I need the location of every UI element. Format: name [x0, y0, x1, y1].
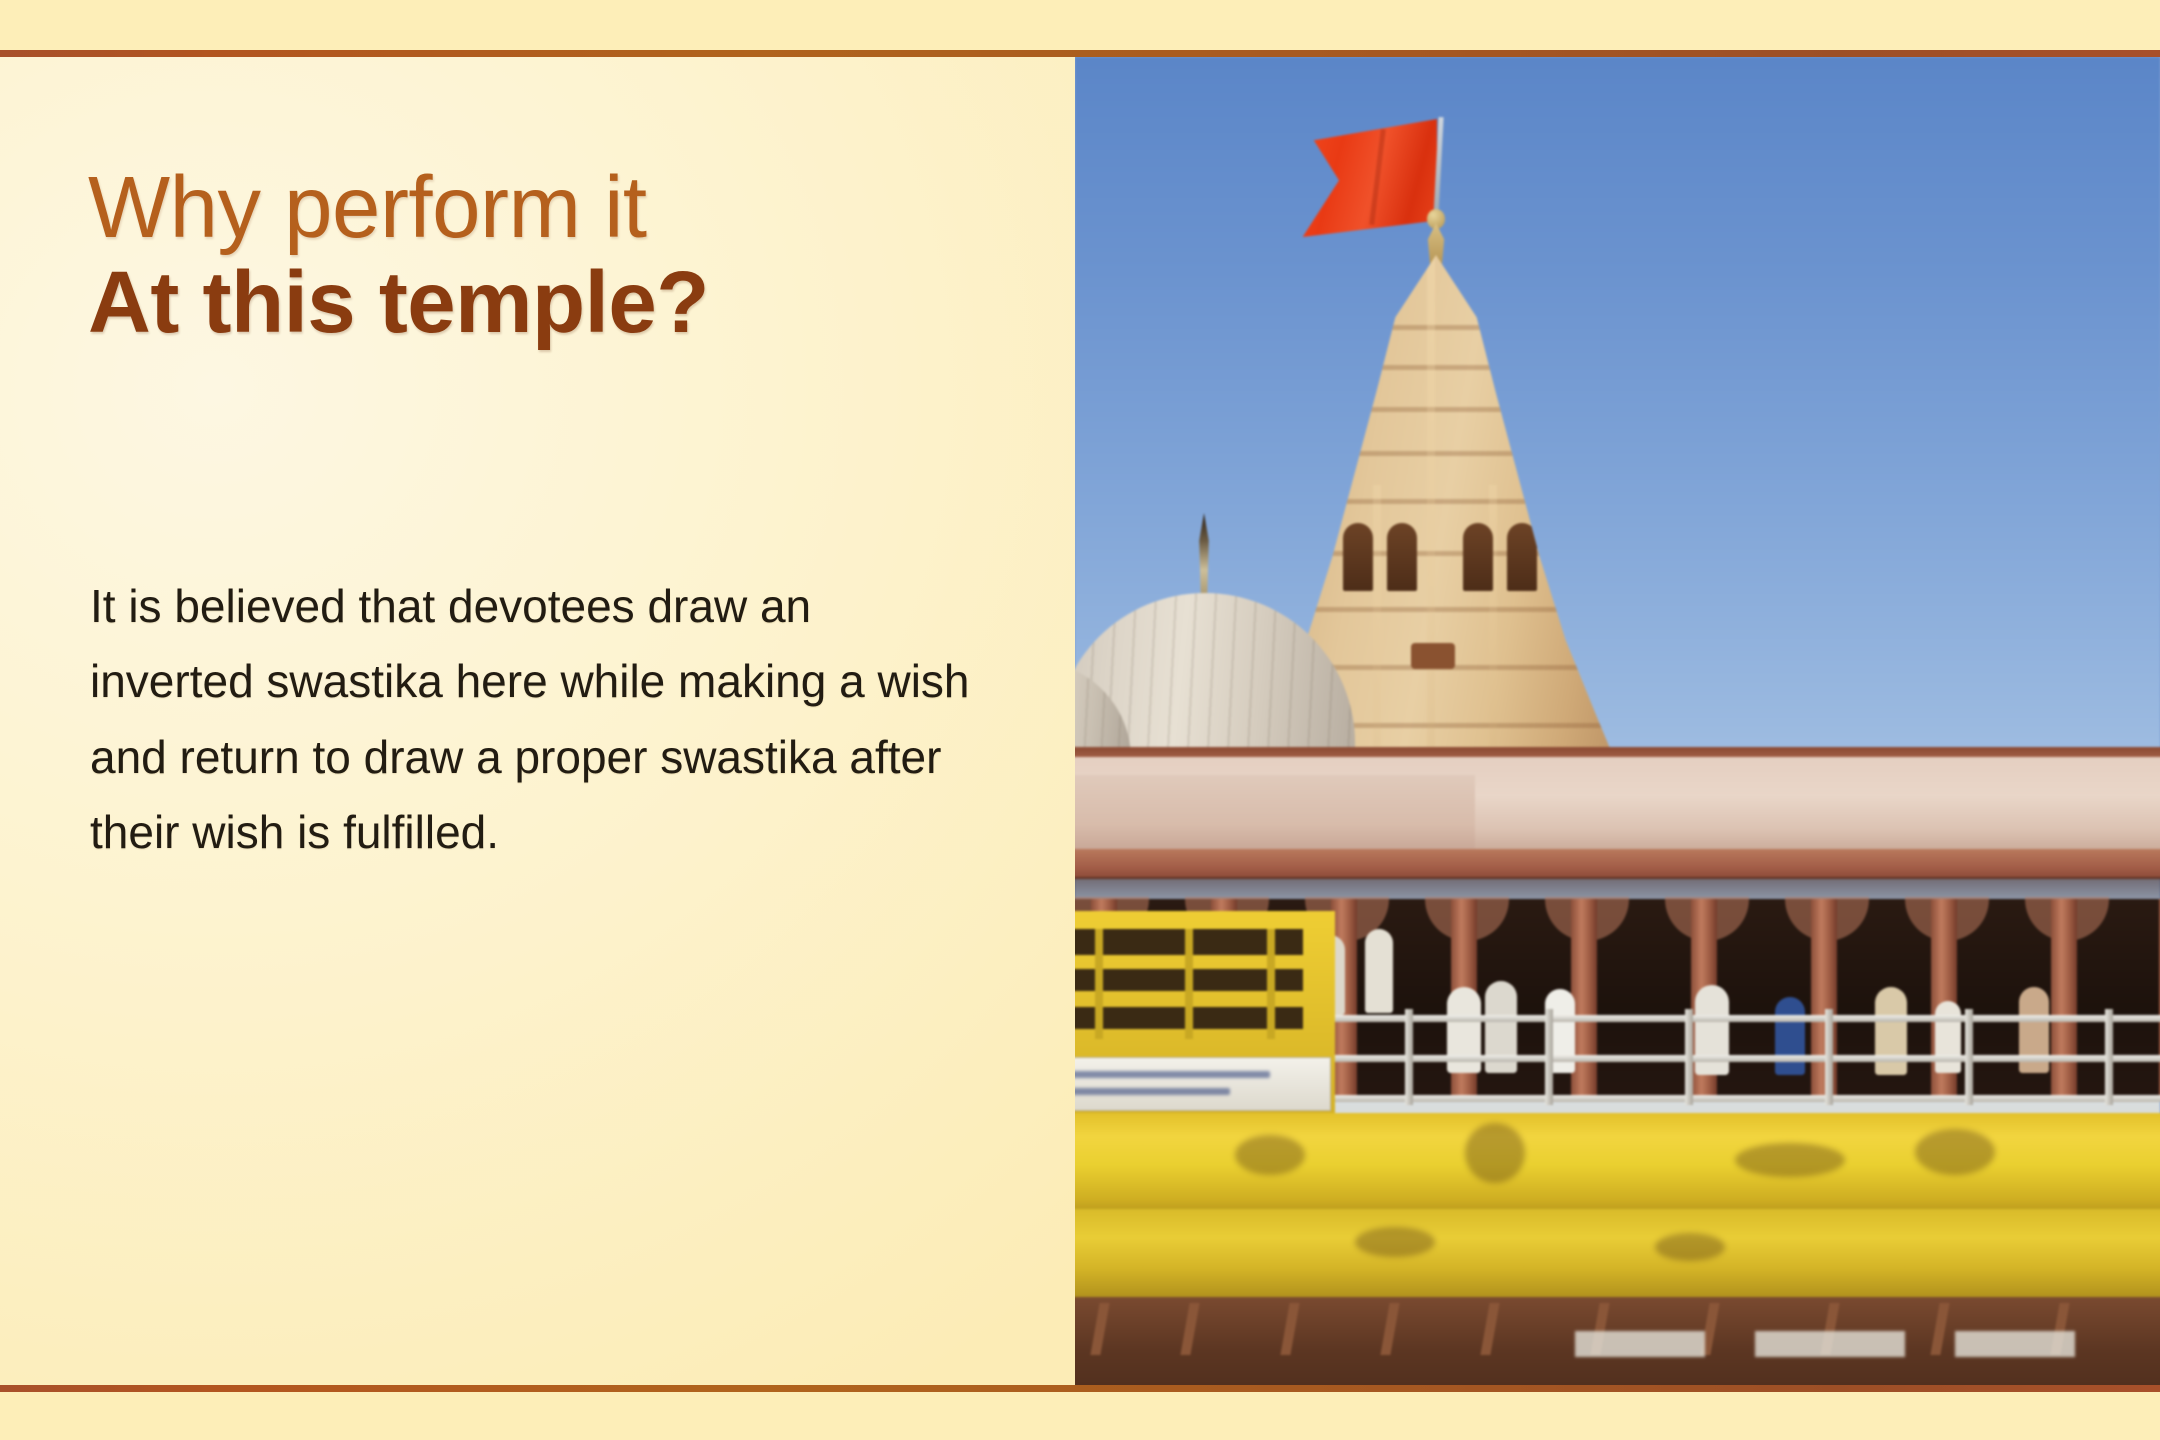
slide-root: Why perform it At this temple? It is bel… [0, 0, 2160, 1440]
heading-line-1: Why perform it [88, 162, 1018, 254]
yellow-barricade-pipe [1075, 1113, 2160, 1221]
cornice [1075, 849, 2160, 879]
yellow-barricade-pipe-lower [1075, 1209, 2160, 1305]
foreground-fence [1075, 1297, 2160, 1385]
mandapa-wall-left [1075, 775, 1475, 857]
bottom-rule-divider [0, 1385, 2160, 1392]
temple-signboard [1075, 1057, 1331, 1111]
heading-line-2: At this temple? [88, 254, 1018, 352]
page-title: Why perform it At this temple? [88, 162, 1018, 353]
person-figure [1365, 929, 1393, 1013]
temple-photo [1075, 57, 2160, 1385]
body-paragraph: It is believed that devotees draw an inv… [90, 569, 970, 871]
top-rule-divider [0, 50, 2160, 57]
temple-photo-illustration [1075, 57, 2160, 1385]
text-panel: Why perform it At this temple? It is bel… [0, 57, 1075, 1385]
